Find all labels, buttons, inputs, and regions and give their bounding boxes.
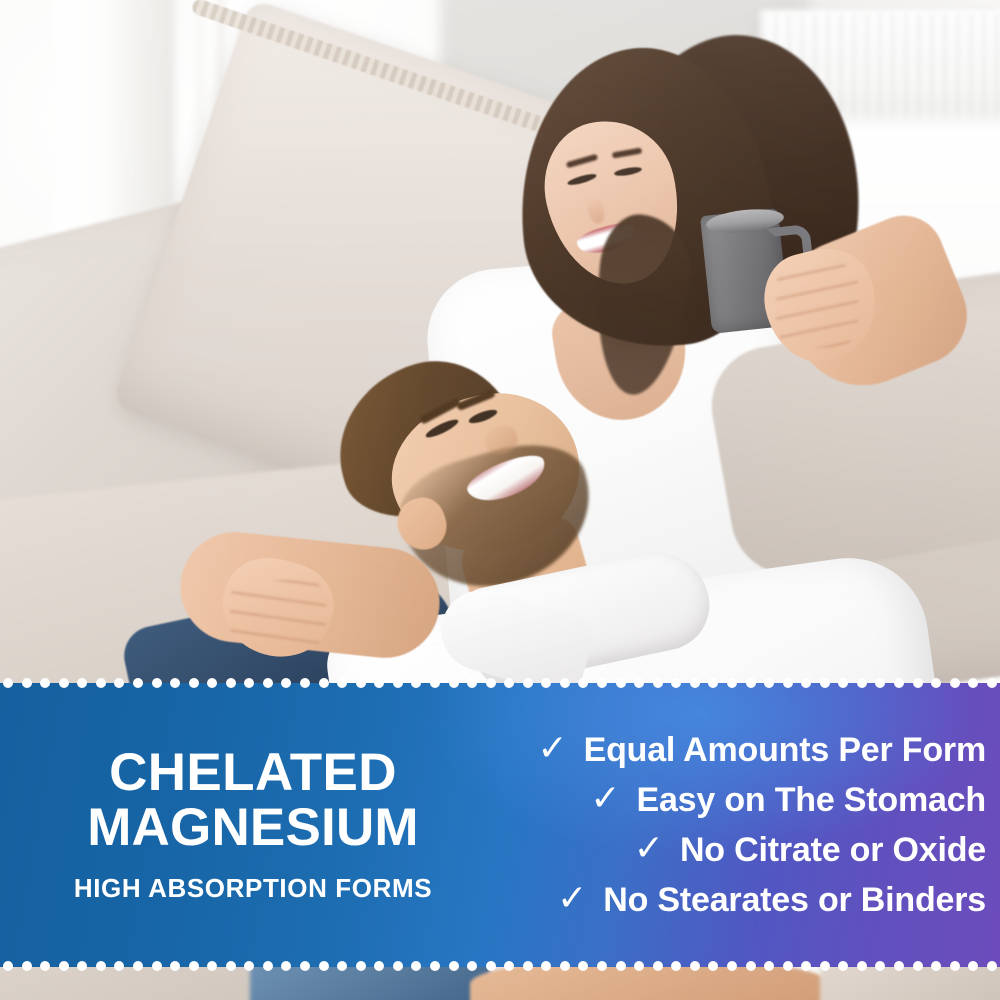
product-title: CHELATED MAGNESIUM [6, 746, 500, 854]
brand-block: CHELATED MAGNESIUM HIGH ABSORPTION FORMS [0, 746, 500, 903]
benefit-label: No Citrate or Oxide [680, 831, 986, 870]
product-subtitle: HIGH ABSORPTION FORMS [6, 873, 500, 904]
benefit-label: Easy on The Stomach [636, 781, 986, 820]
woman-fingers [776, 262, 858, 348]
product-title-line-1: CHELATED [109, 743, 397, 802]
benefit-label: No Stearates or Binders [603, 881, 986, 920]
check-icon: ✓ [634, 830, 664, 866]
promo-banner: CHELATED MAGNESIUM HIGH ABSORPTION FORMS… [0, 683, 1000, 967]
benefit-label: Equal Amounts Per Form [584, 731, 986, 770]
check-icon: ✓ [557, 880, 587, 916]
benefit-item: ✓ Equal Amounts Per Form [537, 731, 986, 770]
check-icon: ✓ [590, 780, 620, 816]
product-image-canvas: CHELATED MAGNESIUM HIGH ABSORPTION FORMS… [0, 0, 1000, 1000]
benefit-item: ✓ No Stearates or Binders [557, 881, 986, 920]
benefit-item: ✓ Easy on The Stomach [590, 781, 986, 820]
benefits-list: ✓ Equal Amounts Per Form ✓ Easy on The S… [500, 731, 1000, 920]
check-icon: ✓ [537, 730, 567, 766]
woman-fingers-secondary [230, 580, 326, 648]
product-title-line-2: MAGNESIUM [6, 801, 500, 855]
benefit-item: ✓ No Citrate or Oxide [634, 831, 986, 870]
